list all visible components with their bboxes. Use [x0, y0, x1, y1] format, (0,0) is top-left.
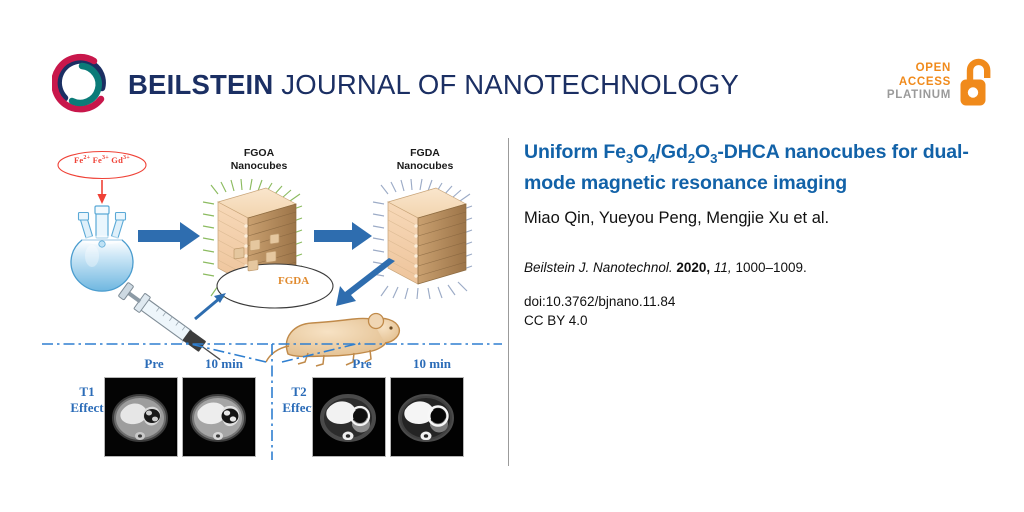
citation-volume: 11,	[714, 260, 732, 275]
ion-3: Gd	[111, 155, 123, 165]
graphical-abstract-page: BEILSTEIN JOURNAL OF NANOTECHNOLOGY OPEN…	[0, 0, 1024, 512]
block-arrow-icon-1	[138, 222, 200, 250]
round-bottom-flask-icon	[71, 206, 133, 291]
title-part-1: Uniform Fe	[524, 141, 626, 163]
fgda-nanocubes-label: FGDA Nanocubes	[380, 147, 470, 173]
article-license: CC BY 4.0	[524, 311, 992, 330]
fgda-ellipse-label: FGDA	[278, 275, 338, 287]
article-doi-block: doi:10.3762/bjnano.11.84 CC BY 4.0	[524, 292, 992, 330]
fgoa-label-line2: Nanocubes	[214, 160, 304, 173]
t2-post-label: 10 min	[402, 356, 462, 372]
mri-image-t2-10min	[390, 377, 464, 457]
title-sub-2: 4	[648, 151, 655, 166]
open-access-badge: OPEN ACCESS PLATINUM	[887, 58, 998, 107]
ion-1: Fe	[74, 155, 83, 165]
precursor-arrow-icon	[97, 180, 106, 204]
block-arrow-icon-2	[314, 222, 372, 250]
ion-2-charge: 3+	[102, 155, 109, 161]
article-doi[interactable]: doi:10.3762/bjnano.11.84	[524, 292, 992, 311]
t1-post-label: 10 min	[194, 356, 254, 372]
open-access-label: OPEN ACCESS PLATINUM	[887, 62, 951, 103]
fgoa-label-line1: FGOA	[214, 147, 304, 160]
mri-image-t1-10min	[182, 377, 256, 457]
column-divider	[508, 138, 509, 466]
ion-1-charge: 2+	[83, 155, 90, 161]
oa-line-platinum: PLATINUM	[887, 89, 951, 103]
beilstein-ring-logo-icon	[52, 52, 114, 116]
fgda-label-line2: Nanocubes	[380, 160, 470, 173]
fgda-label-line1: FGDA	[380, 147, 470, 160]
page-header: BEILSTEIN JOURNAL OF NANOTECHNOLOGY OPEN…	[0, 0, 1024, 130]
ion-3-charge: 3+	[123, 155, 130, 161]
t1-pre-label: Pre	[126, 356, 182, 372]
oa-line-open: OPEN	[887, 62, 951, 76]
brand-rest: JOURNAL OF NANOTECHNOLOGY	[273, 69, 739, 100]
article-metadata: Uniform Fe3O4/Gd2O3-DHCA nanocubes for d…	[524, 140, 992, 330]
mri-image-t1-pre	[104, 377, 178, 457]
fgda-nanocube	[373, 179, 472, 299]
t2-pre-label: Pre	[334, 356, 390, 372]
brand-bold: BEILSTEIN	[128, 69, 273, 100]
article-title: Uniform Fe3O4/Gd2O3-DHCA nanocubes for d…	[524, 140, 992, 195]
title-part-4: O	[695, 141, 710, 163]
injection-arrow-icon	[195, 293, 226, 319]
journal-brand: BEILSTEIN JOURNAL OF NANOTECHNOLOGY	[52, 52, 739, 116]
mri-image-t2-pre	[312, 377, 386, 457]
ion-2: Fe	[93, 155, 102, 165]
article-citation: Beilstein J. Nanotechnol. 2020, 11, 1000…	[524, 259, 992, 277]
block-arrow-icon-3	[336, 258, 395, 306]
fgoa-nanocubes-label: FGOA Nanocubes	[214, 147, 304, 173]
article-authors: Miao Qin, Yueyou Peng, Mengjie Xu et al.	[524, 208, 992, 229]
syringe-icon	[118, 281, 226, 367]
precursor-ions-label: Fe2+ Fe3+ Gd3+	[59, 155, 145, 165]
citation-pages: 1000–1009.	[735, 260, 806, 275]
title-part-2: O	[633, 141, 648, 163]
oa-line-access: ACCESS	[887, 76, 951, 90]
citation-journal: Beilstein J. Nanotechnol.	[524, 260, 673, 275]
citation-year: 2020,	[676, 260, 710, 275]
journal-title-wordmark: BEILSTEIN JOURNAL OF NANOTECHNOLOGY	[128, 71, 739, 99]
graphical-abstract-figure: Fe2+ Fe3+ Gd3+ FGOA Nanocubes FGDA Nanoc…	[42, 134, 502, 470]
open-lock-icon	[958, 58, 998, 107]
title-part-3: /Gd	[656, 141, 688, 163]
title-sub-3: 2	[688, 151, 695, 166]
